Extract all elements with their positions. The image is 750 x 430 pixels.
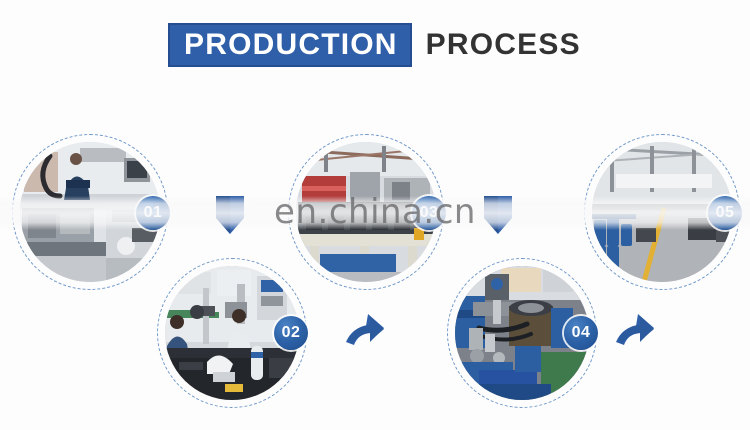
step-node-04[interactable]: 04 (447, 258, 597, 408)
step-node-05[interactable]: 05 (584, 134, 740, 290)
title-rest-text: PROCESS (426, 30, 581, 60)
title-accent-text: PRODUCTION (184, 30, 398, 60)
step-node-01[interactable]: 01 (12, 134, 168, 290)
step-badge-03: 03 (412, 196, 446, 230)
step-node-03[interactable]: 03 (288, 134, 444, 290)
step-badge-01: 01 (136, 196, 170, 230)
step-badge-02: 02 (274, 316, 308, 350)
connector-arrow-03-04 (478, 192, 518, 238)
step-badge-04: 04 (564, 316, 598, 350)
page-title: PRODUCTION PROCESS (168, 20, 581, 70)
connector-arrow-04-05 (614, 302, 666, 350)
curved-up-arrow-icon (614, 302, 666, 350)
title-accent-box: PRODUCTION (168, 23, 412, 67)
curved-up-arrow-icon (344, 302, 396, 350)
production-process-banner: PRODUCTION PROCESS (0, 0, 750, 430)
right-arrow-icon (210, 192, 250, 238)
connector-arrow-01-02 (210, 192, 250, 238)
step-badge-05: 05 (708, 196, 742, 230)
connector-arrow-02-03 (344, 302, 396, 350)
right-arrow-icon (478, 192, 518, 238)
step-node-02[interactable]: 02 (157, 258, 307, 408)
